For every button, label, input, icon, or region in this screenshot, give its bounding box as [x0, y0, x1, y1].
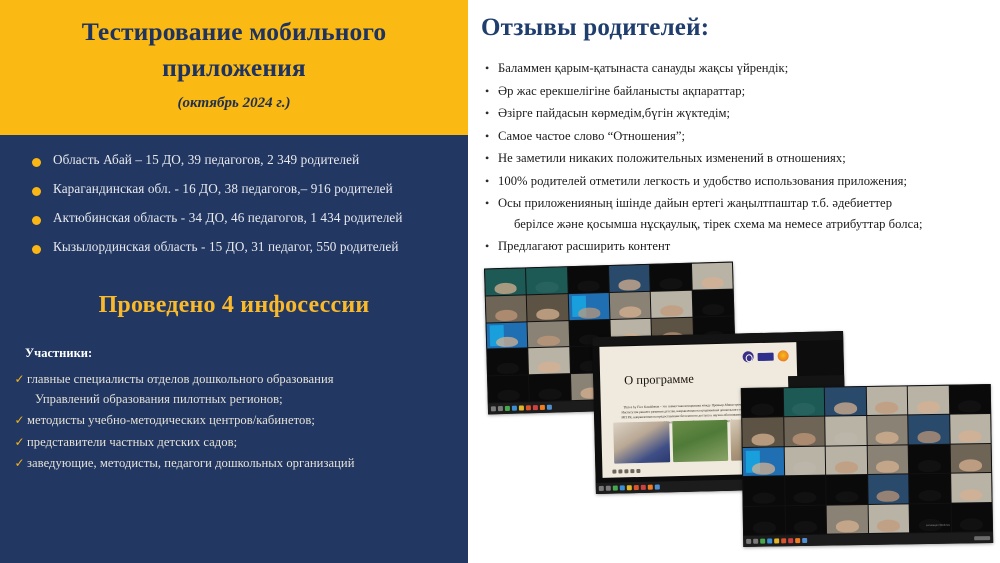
- institute-logo-icon: [743, 351, 754, 362]
- list-item: ✓ представители частных детских садов;: [0, 433, 468, 453]
- zoom-participant-tile: [825, 416, 866, 445]
- list-item: ✓ заведующие, методисты, педагоги дошкол…: [0, 454, 468, 474]
- screenshot-collage: О программе Thrive by Five Kazakhstan – …: [468, 0, 1000, 563]
- app-icon: [655, 484, 660, 489]
- zoom-participant-tile: [568, 266, 609, 293]
- participant-line-1: главные специалисты отделов дошкольного …: [27, 372, 334, 386]
- zoom-participant-tile: [785, 476, 826, 505]
- zoom-participant-tile: [783, 388, 824, 417]
- more-options-icon: [636, 469, 640, 473]
- region-stat-text: Область Абай – 15 ДО, 39 педагогов, 2 34…: [53, 152, 359, 168]
- zoom-participant-tile: [486, 295, 527, 322]
- title-banner: Тестирование мобильного приложения (октя…: [0, 0, 468, 135]
- bullet-dot-icon: [32, 245, 41, 254]
- sunburst-logo-icon: [778, 350, 789, 361]
- zoom-participant-tile: [785, 505, 826, 534]
- zoom-participant-grid: [741, 384, 993, 536]
- grid-icon: [630, 469, 634, 473]
- app-icon: [641, 485, 646, 490]
- browser-icon: [767, 538, 772, 543]
- participants-block: Участники: ✓ главные специалисты отделов…: [0, 346, 468, 476]
- zoom-participant-tile: [867, 445, 908, 474]
- left-column: Тестирование мобильного приложения (октя…: [0, 0, 468, 563]
- list-item: ✓ методисты учебно-методических центров/…: [0, 411, 468, 431]
- zoom-participant-tile: [487, 322, 528, 349]
- app-icon: [802, 538, 807, 543]
- zoom-participant-tile: [949, 385, 990, 414]
- navy-panel: Область Абай – 15 ДО, 39 педагогов, 2 34…: [0, 135, 468, 563]
- browser-icon: [620, 485, 625, 490]
- zoom-participant-tile: [527, 294, 568, 321]
- region-stat-text: Карагандинская обл. - 16 ДО, 38 педагого…: [53, 181, 393, 197]
- zoom-participant-tile: [742, 388, 783, 417]
- play-icon: [612, 470, 616, 474]
- zoom-participant-tile: [488, 375, 529, 402]
- zoom-participant-tile: [868, 475, 909, 504]
- list-item: Карагандинская обл. - 16 ДО, 38 педагого…: [0, 181, 468, 210]
- region-stat-text: Кызылординская область - 15 ДО, 31 педаг…: [53, 239, 398, 255]
- participant-text: методисты учебно-методических центров/ка…: [27, 411, 315, 431]
- bullet-dot-icon: [32, 187, 41, 196]
- zoom-meeting-screenshot-2: Активация Windows: [741, 384, 993, 547]
- taskbar-clock: [974, 536, 990, 540]
- explorer-icon: [505, 406, 510, 411]
- bullet-dot-icon: [32, 216, 41, 225]
- zoom-participant-tile: [827, 505, 868, 534]
- zoom-participant-tile: [568, 293, 609, 320]
- zoom-app-icon: [648, 485, 653, 490]
- zoom-participant-tile: [826, 475, 867, 504]
- windows-start-icon: [746, 539, 751, 544]
- zoom-participant-tile: [909, 445, 950, 474]
- zoom-participant-tile: [867, 416, 908, 445]
- partner-wordmark-logo: [758, 352, 774, 360]
- checkmark-icon: ✓: [12, 454, 27, 473]
- zoom-participant-tile: [485, 268, 526, 295]
- zoom-participant-tile: [826, 446, 867, 475]
- app-icon: [781, 538, 786, 543]
- zoom-participant-tile: [529, 374, 570, 401]
- region-stats-list: Область Абай – 15 ДО, 39 педагогов, 2 34…: [0, 152, 468, 268]
- zoom-participant-tile: [909, 474, 950, 503]
- zoom-app-icon: [795, 538, 800, 543]
- zoom-participant-tile: [692, 289, 733, 316]
- zoom-participant-tile: [487, 349, 528, 376]
- pen-icon: [618, 469, 622, 473]
- zoom-participant-tile: [744, 506, 785, 535]
- list-item: Область Абай – 15 ДО, 39 педагогов, 2 34…: [0, 152, 468, 181]
- list-item: Актюбинская область - 34 ДО, 46 педагого…: [0, 210, 468, 239]
- participant-text: представители частных детских садов;: [27, 433, 237, 453]
- zoom-participant-tile: [651, 291, 692, 318]
- page-subtitle: (октябрь 2024 г.): [24, 95, 444, 112]
- checkmark-icon: ✓: [12, 370, 27, 389]
- windows-start-icon: [599, 486, 604, 491]
- app-icon: [788, 538, 793, 543]
- zoom-participant-tile: [908, 415, 949, 444]
- app-icon: [526, 405, 531, 410]
- zoom-participant-tile: [610, 292, 651, 319]
- zoom-participant-tile: [950, 414, 991, 443]
- painted-hands-photo: [613, 421, 670, 463]
- checkmark-icon: ✓: [12, 411, 27, 430]
- app-icon: [547, 405, 552, 410]
- zoom-participant-tile: [868, 504, 909, 533]
- zoom-participant-tile: [692, 263, 733, 290]
- right-column: Отзывы родителей: • Баламмен қарым-қатын…: [468, 0, 1000, 563]
- zoom-participant-tile: [743, 447, 784, 476]
- zoom-participant-tile: [529, 348, 570, 375]
- slide-controls: [612, 469, 640, 474]
- zoom-participant-tile: [951, 473, 992, 502]
- zoom-participant-tile: [784, 417, 825, 446]
- zoom-participant-tile: [742, 418, 783, 447]
- zoom-participant-tile: [528, 321, 569, 348]
- search-icon: [606, 486, 611, 491]
- slide-title: О программе: [624, 372, 694, 389]
- zoom-participant-tile: [866, 386, 907, 415]
- bullet-dot-icon: [32, 158, 41, 167]
- app-icon: [519, 405, 524, 410]
- laser-icon: [624, 469, 628, 473]
- participant-text: заведующие, методисты, педагоги дошкольн…: [27, 454, 355, 474]
- app-icon: [634, 485, 639, 490]
- participant-text: главные специалисты отделов дошкольного …: [27, 370, 334, 409]
- windows-start-icon: [491, 406, 496, 411]
- zoom-participant-tile: [950, 444, 991, 473]
- slide-logos: [743, 350, 789, 362]
- participant-line-2: Управлений образования пилотных регионов…: [27, 390, 334, 410]
- explorer-icon: [760, 539, 765, 544]
- zoom-participant-tile: [650, 264, 691, 291]
- app-icon: [627, 485, 632, 490]
- zoom-app-icon: [540, 405, 545, 410]
- zoom-participant-tile: [526, 267, 567, 294]
- region-stat-text: Актюбинская область - 34 ДО, 46 педагого…: [53, 210, 403, 226]
- page-title: Тестирование мобильного приложения: [24, 14, 444, 86]
- zoom-participant-tile: [908, 386, 949, 415]
- list-item: Кызылординская область - 15 ДО, 31 педаг…: [0, 239, 468, 268]
- checkmark-icon: ✓: [12, 433, 27, 452]
- tree-climbing-photo: [672, 420, 729, 462]
- zoom-participant-tile: [609, 265, 650, 292]
- zoom-participant-tile: [825, 387, 866, 416]
- infosessions-heading: Проведено 4 инфосессии: [0, 292, 468, 319]
- participants-label: Участники:: [0, 346, 468, 361]
- search-icon: [753, 539, 758, 544]
- zoom-participant-tile: [743, 476, 784, 505]
- browser-icon: [512, 406, 517, 411]
- explorer-icon: [613, 486, 618, 491]
- search-icon: [498, 406, 503, 411]
- app-icon: [774, 538, 779, 543]
- list-item: ✓ главные специалисты отделов дошкольног…: [0, 370, 468, 409]
- zoom-participant-tile: [784, 446, 825, 475]
- app-icon: [533, 405, 538, 410]
